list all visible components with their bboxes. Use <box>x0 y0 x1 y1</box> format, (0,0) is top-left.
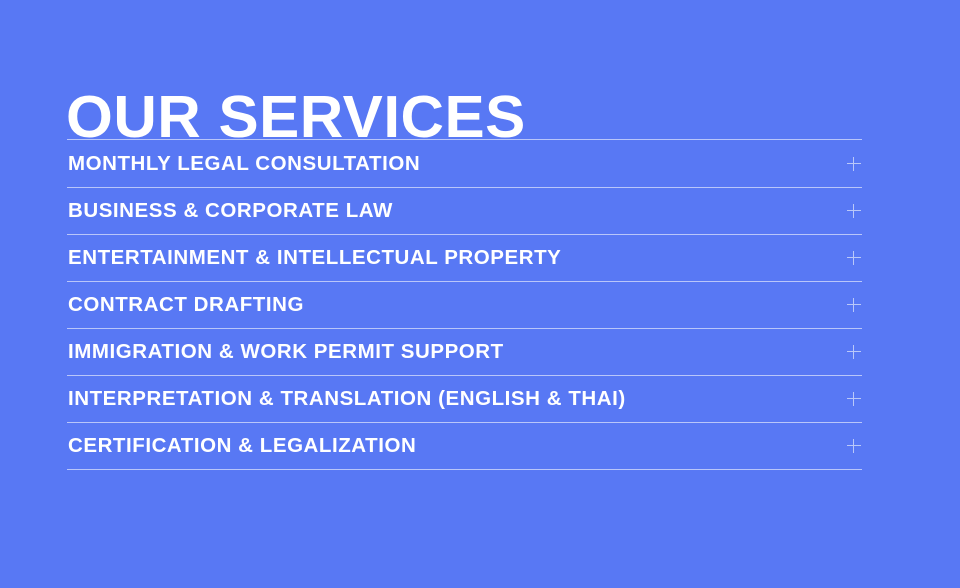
plus-icon[interactable] <box>846 156 862 172</box>
accordion-item-label: ENTERTAINMENT & INTELLECTUAL PROPERTY <box>67 247 561 269</box>
page-title: OUR SERVICES <box>66 87 526 147</box>
accordion-item-monthly-legal-consultation[interactable]: MONTHLY LEGAL CONSULTATION <box>67 140 862 187</box>
accordion-item-label: CONTRACT DRAFTING <box>67 294 304 316</box>
accordion-item-label: INTERPRETATION & TRANSLATION (ENGLISH & … <box>67 388 626 410</box>
services-section: OUR SERVICES MONTHLY LEGAL CONSULTATION … <box>0 0 960 588</box>
plus-icon[interactable] <box>846 297 862 313</box>
accordion-item-certification-legalization[interactable]: CERTIFICATION & LEGALIZATION <box>67 422 862 469</box>
accordion-item-entertainment-intellectual-property[interactable]: ENTERTAINMENT & INTELLECTUAL PROPERTY <box>67 234 862 281</box>
plus-icon[interactable] <box>846 438 862 454</box>
accordion-item-immigration-work-permit-support[interactable]: IMMIGRATION & WORK PERMIT SUPPORT <box>67 328 862 375</box>
plus-icon[interactable] <box>846 250 862 266</box>
accordion-item-label: BUSINESS & CORPORATE LAW <box>67 200 393 222</box>
accordion-item-label: CERTIFICATION & LEGALIZATION <box>67 435 416 457</box>
accordion-item-label: IMMIGRATION & WORK PERMIT SUPPORT <box>67 341 504 363</box>
services-accordion-list: MONTHLY LEGAL CONSULTATION BUSINESS & CO… <box>67 139 862 470</box>
accordion-item-contract-drafting[interactable]: CONTRACT DRAFTING <box>67 281 862 328</box>
plus-icon[interactable] <box>846 203 862 219</box>
plus-icon[interactable] <box>846 344 862 360</box>
accordion-item-label: MONTHLY LEGAL CONSULTATION <box>67 153 420 175</box>
accordion-item-business-corporate-law[interactable]: BUSINESS & CORPORATE LAW <box>67 187 862 234</box>
accordion-item-interpretation-translation[interactable]: INTERPRETATION & TRANSLATION (ENGLISH & … <box>67 375 862 422</box>
plus-icon[interactable] <box>846 391 862 407</box>
